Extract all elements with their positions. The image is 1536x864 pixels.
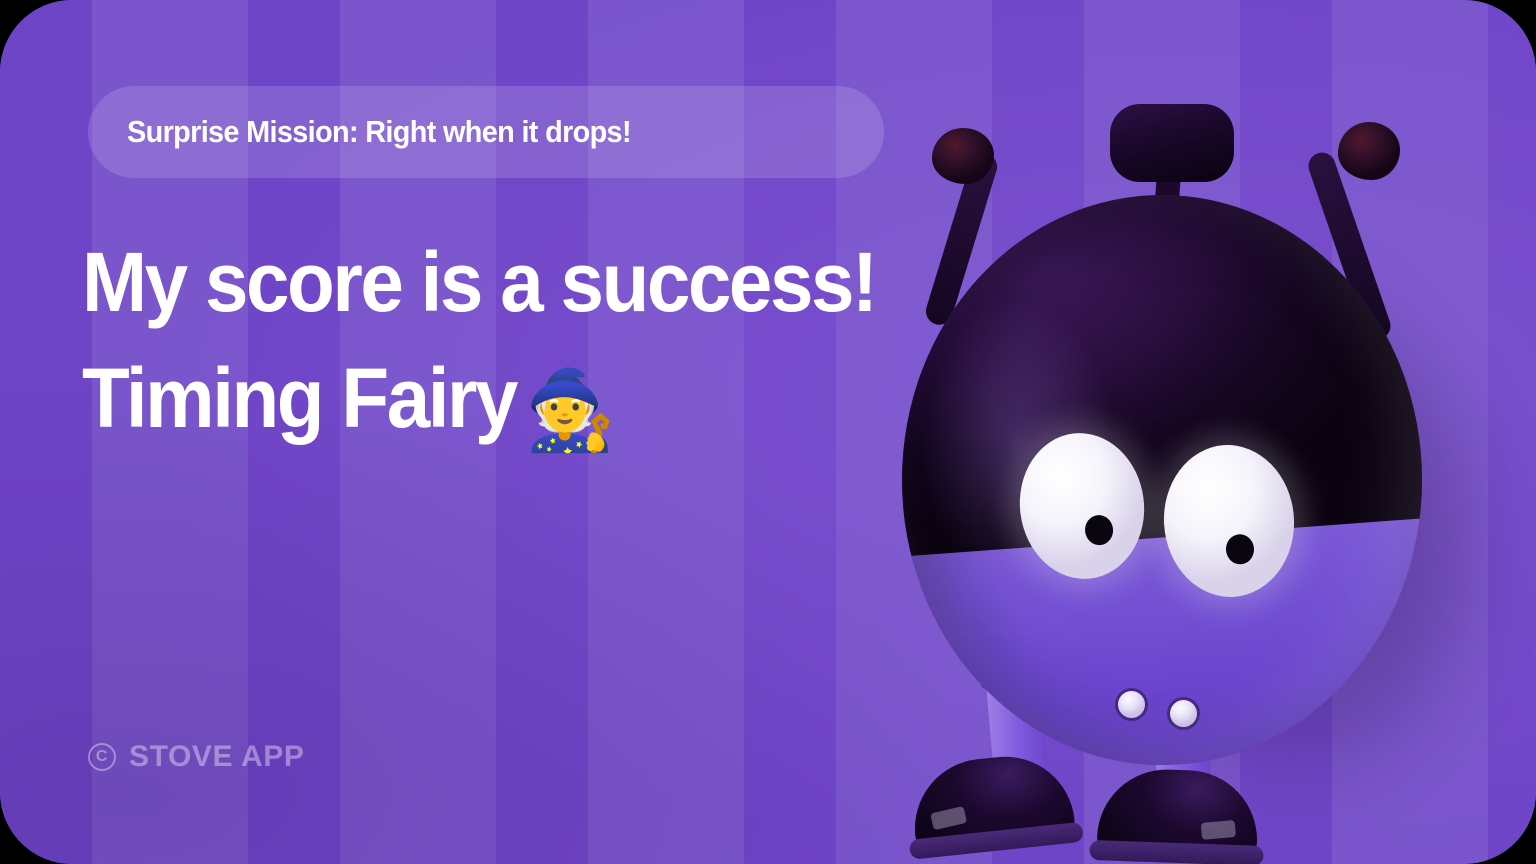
antenna-cap [1110, 104, 1234, 182]
mascot-illustration [840, 40, 1536, 864]
footer-credit: C STOVE APP [88, 740, 304, 774]
headline-line-2-text: Timing Fairy [82, 351, 516, 445]
mascot-body-rim-light [902, 195, 1422, 765]
right-boot-highlight [1201, 820, 1236, 840]
headline: My score is a success! Timing Fairy🧙 [82, 225, 835, 465]
left-arm-tip [932, 128, 994, 184]
headline-line-1: My score is a success! [82, 225, 835, 341]
mission-badge-label: Surprise Mission: Right when it drops! [88, 114, 631, 150]
left-boot-highlight [930, 806, 967, 830]
headline-line-2: Timing Fairy🧙 [82, 341, 835, 465]
mage-wizard-emoji: 🧙 [525, 366, 615, 454]
copyright-icon: C [88, 743, 116, 771]
promo-card: Surprise Mission: Right when it drops! M… [0, 0, 1536, 864]
text-column: Surprise Mission: Right when it drops! M… [0, 0, 920, 864]
mascot-body [902, 195, 1422, 765]
right-arm-tip [1338, 122, 1400, 180]
footer-brand-label: STOVE APP [129, 740, 304, 774]
mission-badge: Surprise Mission: Right when it drops! [88, 86, 884, 178]
